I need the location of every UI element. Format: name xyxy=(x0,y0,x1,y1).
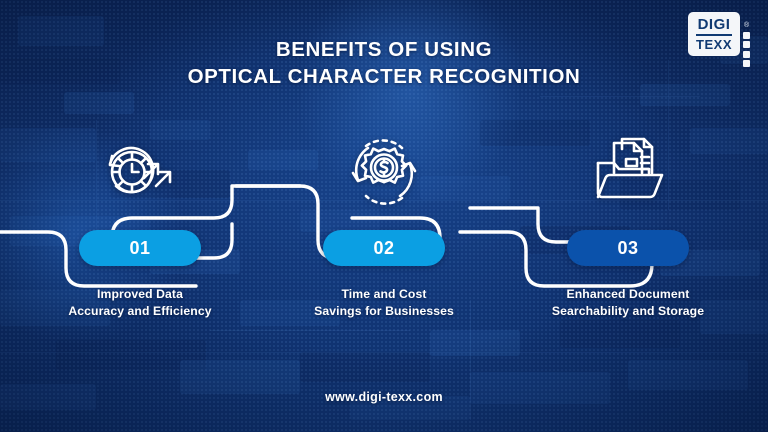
step-1-caption: Improved Data Accuracy and Efficiency xyxy=(12,286,268,320)
step-1-number-pill[interactable]: 01 xyxy=(79,230,201,266)
footer: www.digi-texx.com xyxy=(0,388,768,406)
title-line-2: OPTICAL CHARACTER RECOGNITION xyxy=(0,63,768,90)
benefit-step-2[interactable]: 02 Time and Cost Savings for Businesses xyxy=(256,128,512,320)
step-3-caption-line-2: Searchability and Storage xyxy=(500,303,756,320)
step-2-caption-line-2: Savings for Businesses xyxy=(256,303,512,320)
step-2-caption-line-1: Time and Cost xyxy=(256,286,512,303)
step-2-pill-wrap: 02 xyxy=(256,216,512,278)
step-2-number-pill[interactable]: 02 xyxy=(323,230,445,266)
step-2-caption: Time and Cost Savings for Businesses xyxy=(256,286,512,320)
step-1-caption-line-2: Accuracy and Efficiency xyxy=(12,303,268,320)
benefit-step-3[interactable]: 03 Enhanced Document Searchability and S… xyxy=(500,128,756,320)
page-title: BENEFITS OF USING OPTICAL CHARACTER RECO… xyxy=(0,36,768,90)
step-3-number-pill[interactable]: 03 xyxy=(567,230,689,266)
title-line-1: BENEFITS OF USING xyxy=(0,36,768,63)
step-1-pill-wrap: 01 xyxy=(12,216,268,278)
registered-mark: ® xyxy=(744,22,750,29)
step-3-pill-wrap: 03 xyxy=(500,216,756,278)
step-3-caption-line-1: Enhanced Document xyxy=(500,286,756,303)
folder-documents-icon xyxy=(500,128,756,216)
benefits-steps: 01 Improved Data Accuracy and Efficiency xyxy=(0,128,768,338)
step-3-caption: Enhanced Document Searchability and Stor… xyxy=(500,286,756,320)
gear-dollar-refresh-icon xyxy=(256,128,512,216)
gear-clock-growth-arrows-icon xyxy=(12,128,268,216)
website-url[interactable]: www.digi-texx.com xyxy=(325,390,443,404)
step-1-caption-line-1: Improved Data xyxy=(12,286,268,303)
logo-digi-text: DIGI xyxy=(698,17,731,32)
benefit-step-1[interactable]: 01 Improved Data Accuracy and Efficiency xyxy=(12,128,268,320)
